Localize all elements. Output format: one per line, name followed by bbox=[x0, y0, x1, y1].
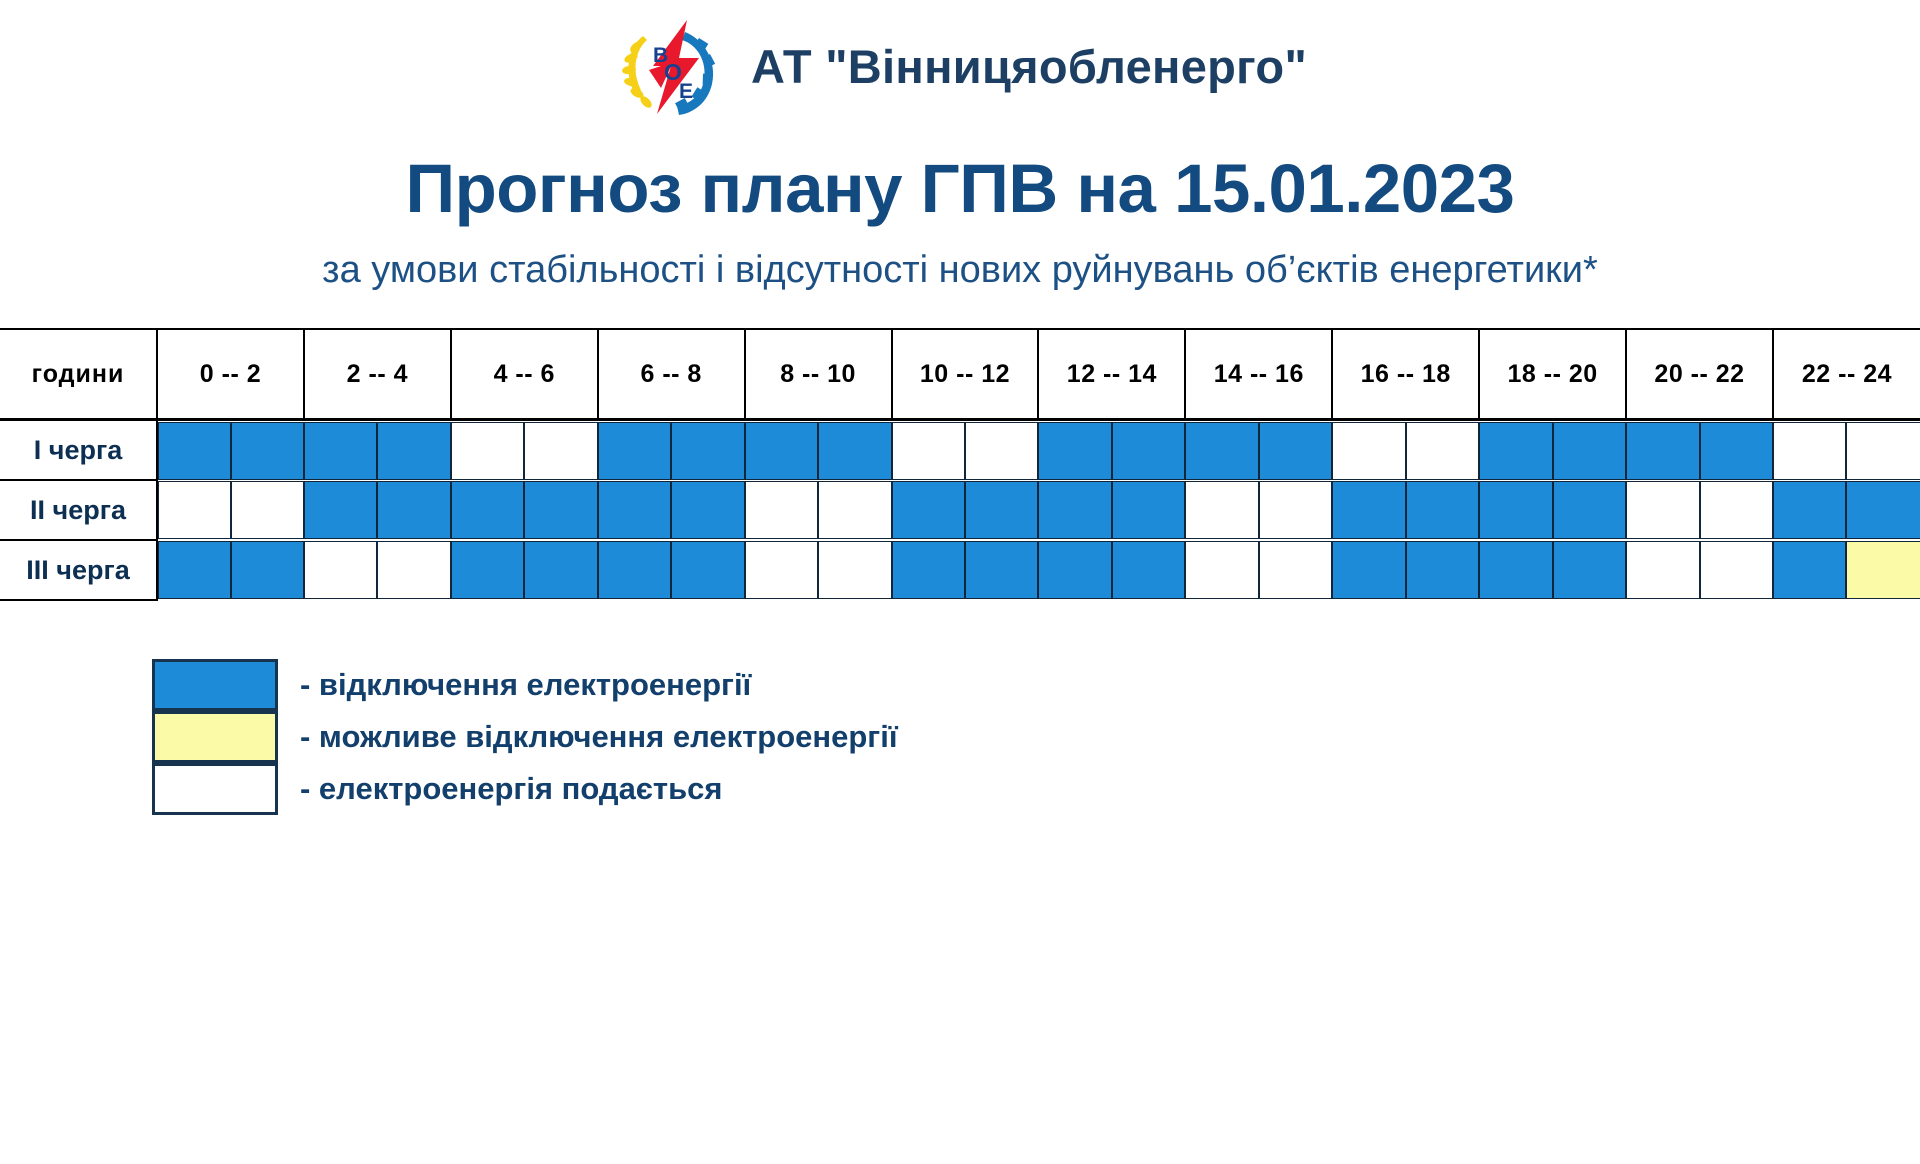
hour-half-cell-on bbox=[1332, 541, 1405, 599]
hour-half-cell-on bbox=[1259, 422, 1332, 480]
header-hour-col: 4 -- 6 bbox=[451, 329, 598, 420]
hour-slot-cell bbox=[451, 480, 598, 540]
hour-half-cell-on bbox=[231, 422, 304, 480]
hour-half-cell-off bbox=[304, 541, 377, 599]
queue-label: I черга bbox=[0, 420, 157, 481]
hour-half-cell-on bbox=[1846, 481, 1920, 539]
legend-item: - електроенергія подається bbox=[152, 763, 1920, 815]
hour-half-cell-on bbox=[1626, 422, 1699, 480]
hour-half-cell-off bbox=[1332, 422, 1405, 480]
hour-slot-cell bbox=[451, 420, 598, 481]
hour-slot-cell bbox=[1626, 480, 1773, 540]
hour-slot-cell bbox=[304, 540, 451, 600]
hour-half-cell-on bbox=[598, 541, 671, 599]
hour-half-cell-on bbox=[1773, 481, 1847, 539]
hour-half-cell-on bbox=[1112, 422, 1185, 480]
header-hour-col: 12 -- 14 bbox=[1038, 329, 1185, 420]
hour-half-cell-on bbox=[158, 422, 231, 480]
svg-text:E: E bbox=[679, 80, 693, 103]
legend-swatch-powered bbox=[152, 763, 278, 815]
hour-slot-cell bbox=[745, 420, 892, 481]
hour-half-cell-off bbox=[231, 481, 304, 539]
hour-half-cell-off bbox=[745, 481, 818, 539]
page-title: Прогноз плану ГПВ на 15.01.2023 bbox=[0, 154, 1920, 224]
hour-slot-cell bbox=[157, 480, 304, 540]
queue-label: III черга bbox=[0, 540, 157, 600]
table-row: III черга bbox=[0, 540, 1920, 600]
hour-half-cell-on bbox=[1112, 541, 1185, 599]
hour-half-cell-on bbox=[451, 541, 524, 599]
hour-half-cell-on bbox=[745, 422, 818, 480]
hour-half-cell-on bbox=[1773, 541, 1847, 599]
voe-wheat-gear-lightning-logo: B O E bbox=[613, 14, 725, 118]
legend-label: - електроенергія подається bbox=[300, 771, 723, 807]
hour-half-cell-off bbox=[1259, 541, 1332, 599]
header-hour-col: 10 -- 12 bbox=[892, 329, 1039, 420]
hour-half-cell-off bbox=[1185, 481, 1258, 539]
brand-header: B O E АТ "Вінницяобленерго" bbox=[0, 0, 1920, 108]
hour-half-cell-on bbox=[892, 541, 965, 599]
hour-slot-cell bbox=[1773, 540, 1920, 600]
hour-half-cell-off bbox=[1259, 481, 1332, 539]
hour-half-cell-on bbox=[818, 422, 891, 480]
legend-swatch-possible-outage bbox=[152, 711, 278, 763]
queue-label: II черга bbox=[0, 480, 157, 540]
hour-half-cell-off bbox=[892, 422, 965, 480]
hour-half-cell-on bbox=[892, 481, 965, 539]
legend-label: - можливе відключення електроенергії bbox=[300, 719, 898, 755]
outage-schedule-table: години 0 -- 2 2 -- 4 4 -- 6 6 -- 8 8 -- … bbox=[0, 328, 1920, 601]
header-hour-col: 16 -- 18 bbox=[1332, 329, 1479, 420]
hour-half-cell-maybe bbox=[1846, 541, 1920, 599]
hour-half-cell-on bbox=[231, 541, 304, 599]
table-row: II черга bbox=[0, 480, 1920, 540]
hour-slot-cell bbox=[892, 420, 1039, 481]
hour-half-cell-off bbox=[745, 541, 818, 599]
hour-half-cell-on bbox=[1112, 481, 1185, 539]
hour-slot-cell bbox=[1038, 480, 1185, 540]
hour-half-cell-on bbox=[524, 481, 597, 539]
hour-half-cell-off bbox=[524, 422, 597, 480]
page-subtitle: за умови стабільності і відсутності нови… bbox=[0, 250, 1920, 292]
hour-half-cell-on bbox=[451, 481, 524, 539]
header-hour-col: 14 -- 16 bbox=[1185, 329, 1332, 420]
hour-half-cell-off bbox=[818, 541, 891, 599]
hour-slot-cell bbox=[1185, 480, 1332, 540]
hour-slot-cell bbox=[1479, 540, 1626, 600]
hour-half-cell-on bbox=[524, 541, 597, 599]
hour-slot-cell bbox=[157, 540, 304, 600]
hour-slot-cell bbox=[745, 480, 892, 540]
hour-half-cell-on bbox=[377, 422, 450, 480]
header-hour-col: 8 -- 10 bbox=[745, 329, 892, 420]
hour-slot-cell bbox=[1773, 480, 1920, 540]
hour-half-cell-off bbox=[1626, 541, 1699, 599]
hour-half-cell-off bbox=[965, 422, 1038, 480]
hour-slot-cell bbox=[1332, 420, 1479, 481]
hour-slot-cell bbox=[157, 420, 304, 481]
legend: - відключення електроенергії - можливе в… bbox=[152, 659, 1920, 815]
legend-swatch-outage bbox=[152, 659, 278, 711]
company-name: АТ "Вінницяобленерго" bbox=[751, 43, 1307, 90]
hour-half-cell-on bbox=[1479, 481, 1552, 539]
hour-half-cell-off bbox=[1406, 422, 1479, 480]
hour-half-cell-on bbox=[304, 422, 377, 480]
hour-half-cell-on bbox=[598, 481, 671, 539]
hour-slot-cell bbox=[1185, 540, 1332, 600]
hour-half-cell-on bbox=[1553, 422, 1626, 480]
hour-half-cell-on bbox=[1038, 481, 1111, 539]
hour-half-cell-off bbox=[1626, 481, 1699, 539]
hour-slot-cell bbox=[304, 480, 451, 540]
hour-half-cell-on bbox=[671, 481, 744, 539]
schedule-table-wrapper: години 0 -- 2 2 -- 4 4 -- 6 6 -- 8 8 -- … bbox=[0, 328, 1920, 601]
hour-half-cell-on bbox=[1700, 422, 1773, 480]
hour-half-cell-on bbox=[1553, 481, 1626, 539]
hour-half-cell-on bbox=[1038, 422, 1111, 480]
hour-slot-cell bbox=[1038, 420, 1185, 481]
hour-half-cell-off bbox=[377, 541, 450, 599]
hour-slot-cell bbox=[745, 540, 892, 600]
hour-slot-cell bbox=[1332, 480, 1479, 540]
hour-slot-cell bbox=[304, 420, 451, 481]
header-hour-col: 6 -- 8 bbox=[598, 329, 745, 420]
hour-slot-cell bbox=[1626, 420, 1773, 481]
hour-slot-cell bbox=[451, 540, 598, 600]
header-hour-col: 0 -- 2 bbox=[157, 329, 304, 420]
hour-half-cell-off bbox=[1185, 541, 1258, 599]
schedule-body: I чергаII чергаIII черга bbox=[0, 420, 1920, 601]
hour-half-cell-off bbox=[1700, 481, 1773, 539]
hour-half-cell-off bbox=[451, 422, 524, 480]
hour-slot-cell bbox=[1626, 540, 1773, 600]
hour-half-cell-off bbox=[818, 481, 891, 539]
header-hour-col: 18 -- 20 bbox=[1479, 329, 1626, 420]
hour-half-cell-on bbox=[965, 541, 1038, 599]
hour-half-cell-on bbox=[1406, 541, 1479, 599]
hour-slot-cell bbox=[598, 480, 745, 540]
hour-half-cell-on bbox=[304, 481, 377, 539]
hour-slot-cell bbox=[1773, 420, 1920, 481]
header-hour-col: 20 -- 22 bbox=[1626, 329, 1773, 420]
legend-item: - відключення електроенергії bbox=[152, 659, 1920, 711]
hour-half-cell-on bbox=[1406, 481, 1479, 539]
hour-half-cell-on bbox=[1038, 541, 1111, 599]
legend-item: - можливе відключення електроенергії bbox=[152, 711, 1920, 763]
legend-label: - відключення електроенергії bbox=[300, 667, 751, 703]
hour-half-cell-on bbox=[1185, 422, 1258, 480]
hour-half-cell-on bbox=[965, 481, 1038, 539]
table-header-row: години 0 -- 2 2 -- 4 4 -- 6 6 -- 8 8 -- … bbox=[0, 329, 1920, 420]
hour-slot-cell bbox=[892, 540, 1039, 600]
hour-half-cell-on bbox=[377, 481, 450, 539]
hour-half-cell-on bbox=[671, 422, 744, 480]
hour-slot-cell bbox=[1479, 420, 1626, 481]
header-hour-col: 22 -- 24 bbox=[1773, 329, 1920, 420]
hour-half-cell-on bbox=[1479, 541, 1552, 599]
hour-slot-cell bbox=[1038, 540, 1185, 600]
hour-half-cell-on bbox=[598, 422, 671, 480]
hour-slot-cell bbox=[892, 480, 1039, 540]
hour-half-cell-off bbox=[158, 481, 231, 539]
hour-half-cell-on bbox=[1479, 422, 1552, 480]
hour-half-cell-on bbox=[671, 541, 744, 599]
hour-half-cell-off bbox=[1773, 422, 1847, 480]
header-hour-col: 2 -- 4 bbox=[304, 329, 451, 420]
hour-slot-cell bbox=[1332, 540, 1479, 600]
table-row: I черга bbox=[0, 420, 1920, 481]
hour-half-cell-on bbox=[158, 541, 231, 599]
hour-slot-cell bbox=[598, 540, 745, 600]
hour-half-cell-off bbox=[1700, 541, 1773, 599]
hour-slot-cell bbox=[598, 420, 745, 481]
hour-slot-cell bbox=[1479, 480, 1626, 540]
hour-half-cell-on bbox=[1332, 481, 1405, 539]
hour-half-cell-on bbox=[1553, 541, 1626, 599]
hour-slot-cell bbox=[1185, 420, 1332, 481]
hour-half-cell-off bbox=[1846, 422, 1920, 480]
header-hours-label: години bbox=[0, 329, 157, 420]
